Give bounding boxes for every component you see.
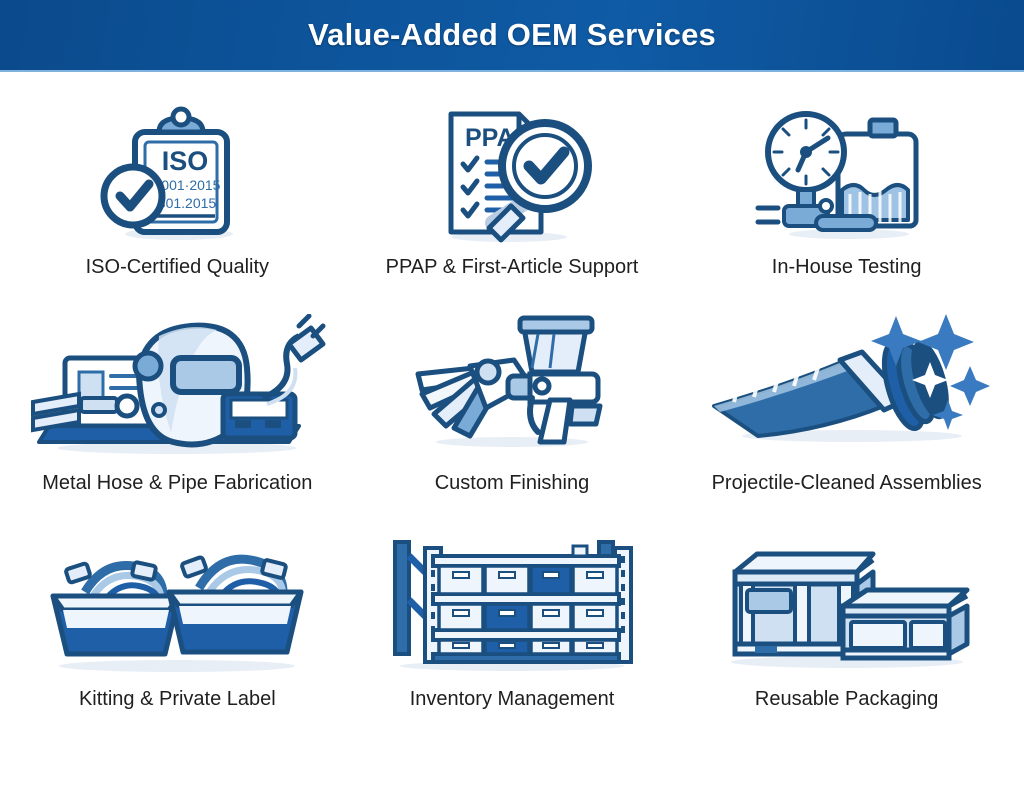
page-title: Value-Added OEM Services [308, 17, 716, 53]
ppap-document-magnifier-icon: PPAP [419, 98, 604, 248]
service-card-kitting-private-label[interactable]: Kitting & Private Label [10, 530, 345, 746]
service-card-metal-hose-pipe-fabrication[interactable]: Metal Hose & Pipe Fabrication [10, 314, 345, 530]
service-label: In-House Testing [772, 256, 922, 279]
service-card-iso-certified-quality[interactable]: ISO 9001·2015 301.2015 ISO-Certified Qua… [10, 98, 345, 314]
service-card-ppap-first-article-support[interactable]: PPAP [345, 98, 680, 314]
service-label: Projectile-Cleaned Assemblies [712, 472, 982, 495]
warehouse-shelving-rack-icon [377, 530, 647, 680]
service-label: PPAP & First-Article Support [386, 256, 639, 279]
service-label: Metal Hose & Pipe Fabrication [42, 472, 312, 495]
service-label: Custom Finishing [435, 472, 590, 495]
service-card-inventory-management[interactable]: Inventory Management [345, 530, 680, 746]
welding-helmet-equipment-icon [27, 314, 327, 464]
iso-icon-title: ISO [162, 146, 209, 176]
poster-page: Value-Added OEM Services ISO 9001·2015 3… [0, 0, 1024, 800]
service-label: Reusable Packaging [755, 688, 938, 711]
services-grid: ISO 9001·2015 301.2015 ISO-Certified Qua… [0, 72, 1024, 746]
service-card-projectile-cleaned-assemblies[interactable]: Projectile-Cleaned Assemblies [679, 314, 1014, 530]
iso-icon-standard-2: 301.2015 [158, 195, 217, 211]
service-label: Inventory Management [410, 688, 615, 711]
parts-bins-coiled-hose-icon [37, 530, 317, 680]
paint-spray-gun-swatch-icon [404, 314, 619, 464]
iso-clipboard-icon: ISO 9001·2015 301.2015 [97, 98, 257, 248]
service-card-in-house-testing[interactable]: In-House Testing [679, 98, 1014, 314]
page-header: Value-Added OEM Services [0, 0, 1024, 72]
corrugated-hose-sparkle-icon [702, 314, 992, 464]
service-label: ISO-Certified Quality [86, 256, 269, 279]
service-label: Kitting & Private Label [79, 688, 276, 711]
service-card-reusable-packaging[interactable]: Reusable Packaging [679, 530, 1014, 746]
pressure-gauge-tank-icon [754, 98, 939, 248]
service-card-custom-finishing[interactable]: Custom Finishing [345, 314, 680, 530]
stackable-crates-icon [707, 530, 987, 680]
